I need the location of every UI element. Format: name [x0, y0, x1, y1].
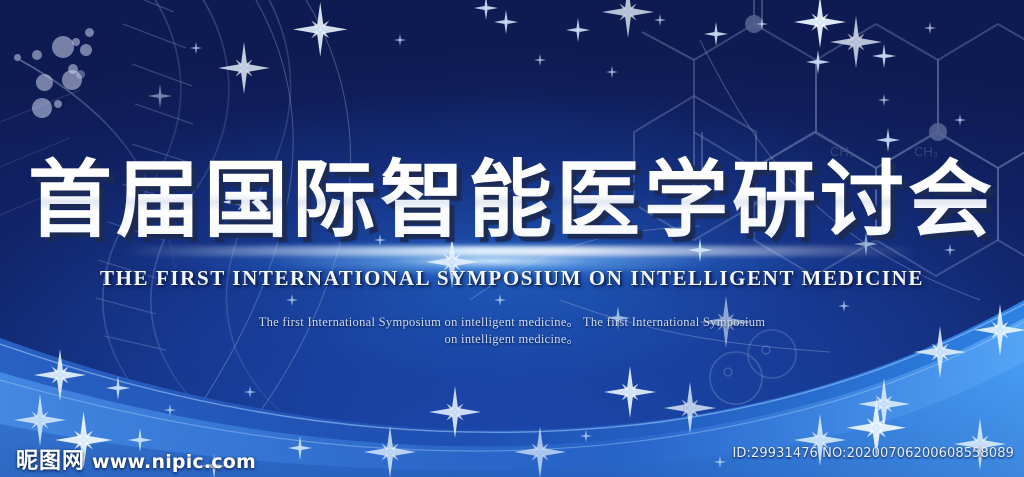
poster-subtitle: THE FIRST INTERNATIONAL SYMPOSIUM ON INT…: [0, 266, 1024, 291]
title-light-line: [120, 246, 920, 256]
molecule-circles-decoration: [10, 8, 130, 118]
dna-helix-decoration: [0, 0, 380, 410]
hexagon-molecule-decoration: CH₃ CH₃: [624, 0, 1024, 290]
watermark-site-url: www.nipic.com: [92, 451, 256, 473]
chem-label-2: CH₃: [914, 144, 938, 159]
poster-canvas: CH₃ CH₃: [0, 0, 1024, 477]
sparkle-stars-decoration: [0, 0, 1024, 477]
title-glow-streak: [0, 228, 1024, 294]
poster-blurb: The first International Symposium on int…: [0, 314, 1024, 348]
diagonal-lines-decoration: [0, 0, 1024, 477]
poster-blurb-line2: on intelligent medicine。: [0, 331, 1024, 348]
watermark: 昵图网 www.nipic.com: [16, 443, 256, 475]
chem-label-1: CH₃: [830, 144, 854, 159]
bubble-circles-decoration: [690, 320, 820, 410]
image-id-code: ID:29931476 NO:20200706200608558089: [732, 446, 1014, 461]
poster-title-shadow: 首届国际智能医学研讨会: [5, 157, 1024, 253]
poster-blurb-line1: The first International Symposium on int…: [0, 314, 1024, 331]
poster-title-block: 首届国际智能医学研讨会 首届国际智能医学研讨会: [0, 152, 1024, 248]
poster-title: 首届国际智能医学研讨会: [28, 152, 996, 248]
watermark-site-name: 昵图网: [16, 443, 85, 475]
